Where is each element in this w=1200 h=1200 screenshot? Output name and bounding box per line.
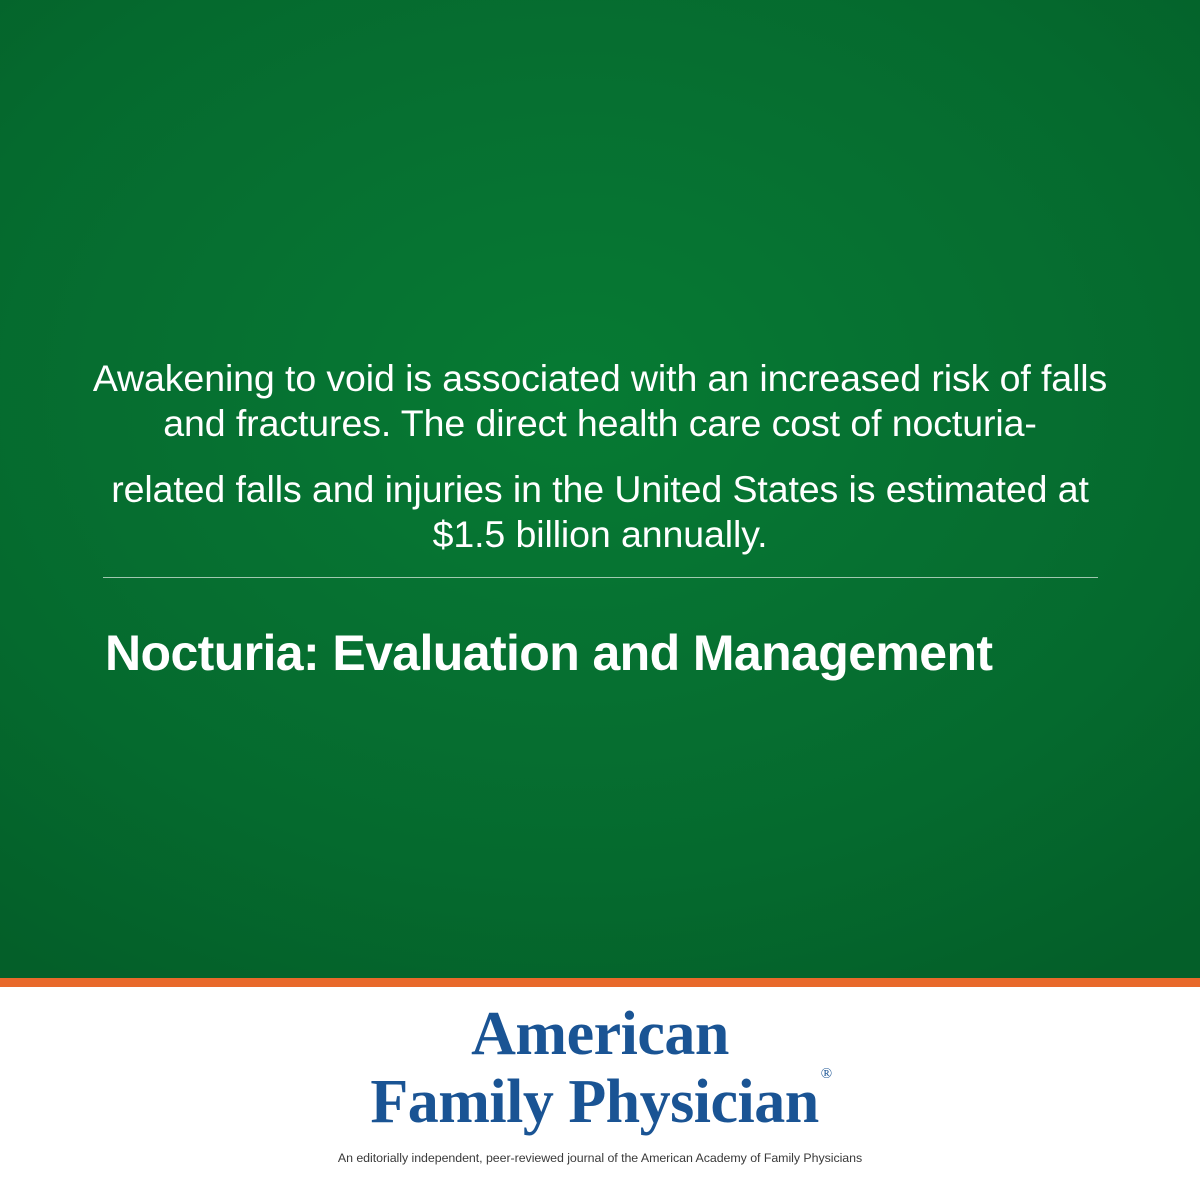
pull-quote: Awakening to void is associated with an … — [92, 356, 1108, 557]
hero-content: Awakening to void is associated with an … — [0, 0, 1200, 978]
logo-line-family-physician: Family Physician® — [0, 1071, 1200, 1133]
afp-logo: American Family Physician® An editoriall… — [0, 987, 1200, 1165]
logo-line-family-physician-text: Family Physician — [370, 1068, 818, 1136]
article-title: Nocturia: Evaluation and Management — [105, 622, 1115, 684]
registered-trademark-icon: ® — [821, 1066, 832, 1082]
horizontal-divider — [103, 577, 1098, 578]
article-promo-card: Awakening to void is associated with an … — [0, 0, 1200, 1200]
logo-tagline: An editorially independent, peer-reviewe… — [0, 1151, 1200, 1165]
orange-accent-bar — [0, 978, 1200, 987]
logo-line-american: American — [0, 1003, 1200, 1065]
pull-quote-line-2: related falls and injuries in the United… — [92, 467, 1108, 557]
pull-quote-line-1: Awakening to void is associated with an … — [92, 356, 1108, 446]
footer-panel: American Family Physician® An editoriall… — [0, 987, 1200, 1200]
hero-panel: Awakening to void is associated with an … — [0, 0, 1200, 978]
